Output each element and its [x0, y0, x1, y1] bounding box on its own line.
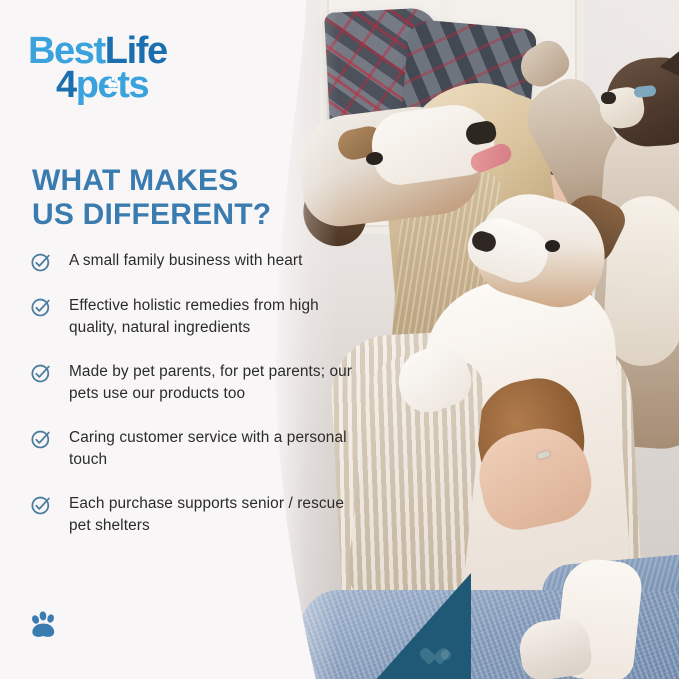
dog-held-eye — [545, 240, 560, 252]
logo-text-4: 4 — [56, 64, 76, 106]
list-item-label: Each purchase supports senior / rescue p… — [69, 493, 360, 537]
paw-print-icon — [106, 76, 121, 90]
check-circle-icon — [30, 362, 52, 384]
logo-line-2: 4pets — [56, 66, 167, 104]
content-column: BestLife 4pets WHAT MAKES US DIFFERENT? — [0, 0, 300, 679]
list-item: Made by pet parents, for pet parents; ou… — [30, 361, 360, 405]
list-item-label: A small family business with heart — [69, 250, 303, 272]
check-circle-icon — [30, 494, 52, 516]
benefits-list: A small family business with heart Effec… — [30, 250, 360, 559]
headline-line-1: WHAT MAKES — [32, 164, 302, 198]
list-item: Each purchase supports senior / rescue p… — [30, 493, 360, 537]
page-title: WHAT MAKES US DIFFERENT? — [32, 164, 302, 232]
list-item: Caring customer service with a personal … — [30, 427, 360, 471]
list-item-label: Caring customer service with a personal … — [69, 427, 360, 471]
check-circle-icon — [30, 251, 52, 273]
advert-canvas: BestLife 4pets WHAT MAKES US DIFFERENT? — [0, 0, 679, 679]
list-item: A small family business with heart — [30, 250, 360, 273]
list-item: Effective holistic remedies from high qu… — [30, 295, 360, 339]
list-item-label: Effective holistic remedies from high qu… — [69, 295, 360, 339]
headline-line-2: US DIFFERENT? — [32, 198, 302, 232]
heart-icon — [420, 649, 440, 667]
list-item-label: Made by pet parents, for pet parents; ou… — [69, 361, 360, 405]
check-circle-icon — [30, 428, 52, 450]
brand-logo[interactable]: BestLife 4pets — [28, 32, 167, 104]
cat-nose — [601, 92, 616, 104]
check-circle-icon — [30, 296, 52, 318]
paw-print-icon — [28, 609, 62, 641]
